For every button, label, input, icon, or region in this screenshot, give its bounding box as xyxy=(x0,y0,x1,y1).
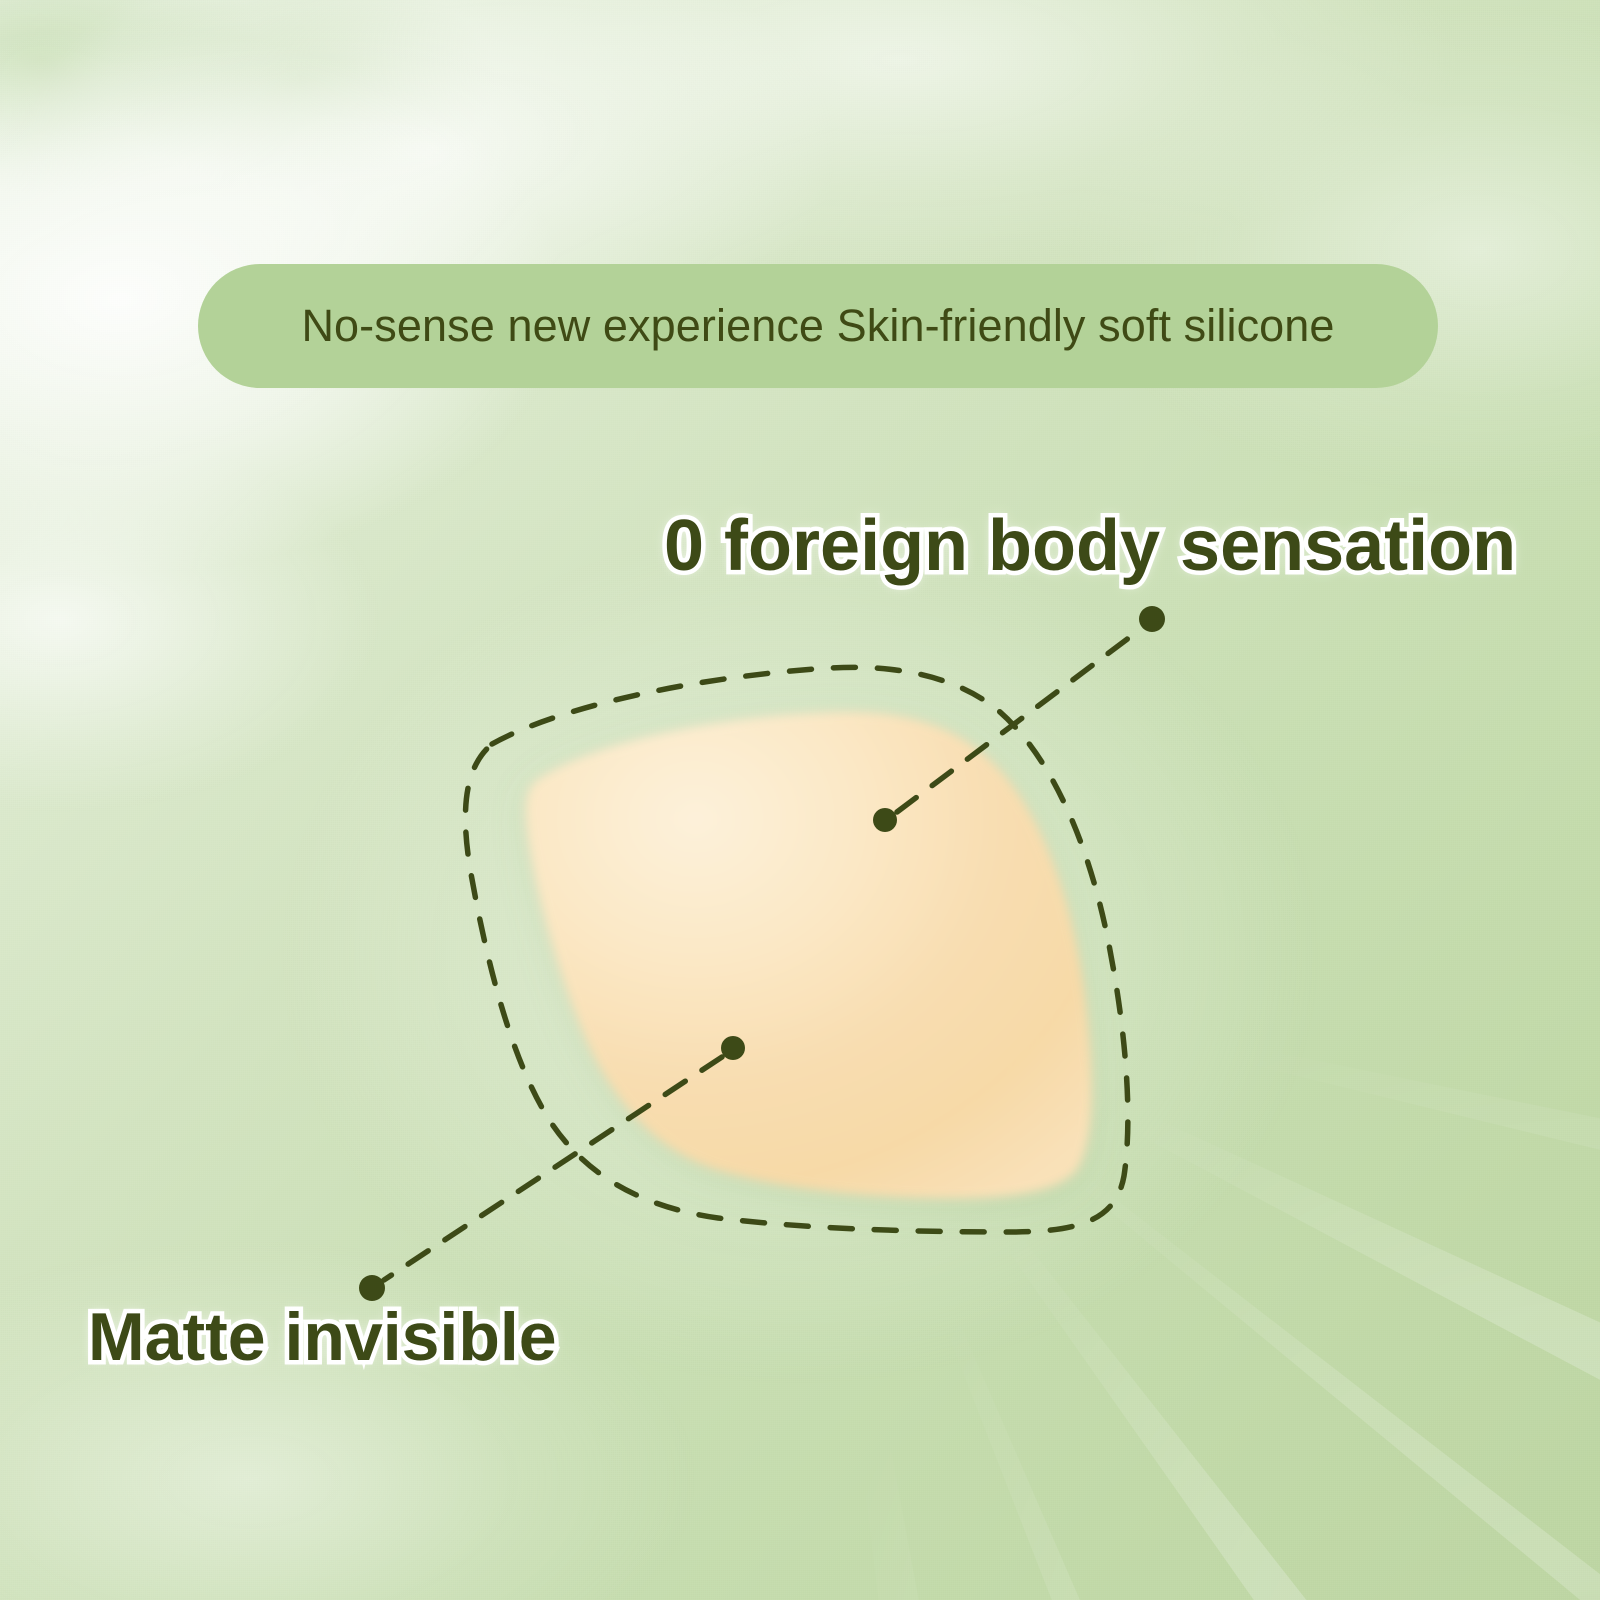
headline-banner: No-sense new experience Skin-friendly so… xyxy=(198,264,1438,388)
callout-label-matte: Matte invisible xyxy=(88,1298,557,1376)
callout-label-sensation: 0 foreign body sensation xyxy=(664,505,1516,587)
product-feature-image: No-sense new experience Skin-friendly so… xyxy=(0,0,1600,1600)
headline-banner-text: No-sense new experience Skin-friendly so… xyxy=(301,300,1334,352)
